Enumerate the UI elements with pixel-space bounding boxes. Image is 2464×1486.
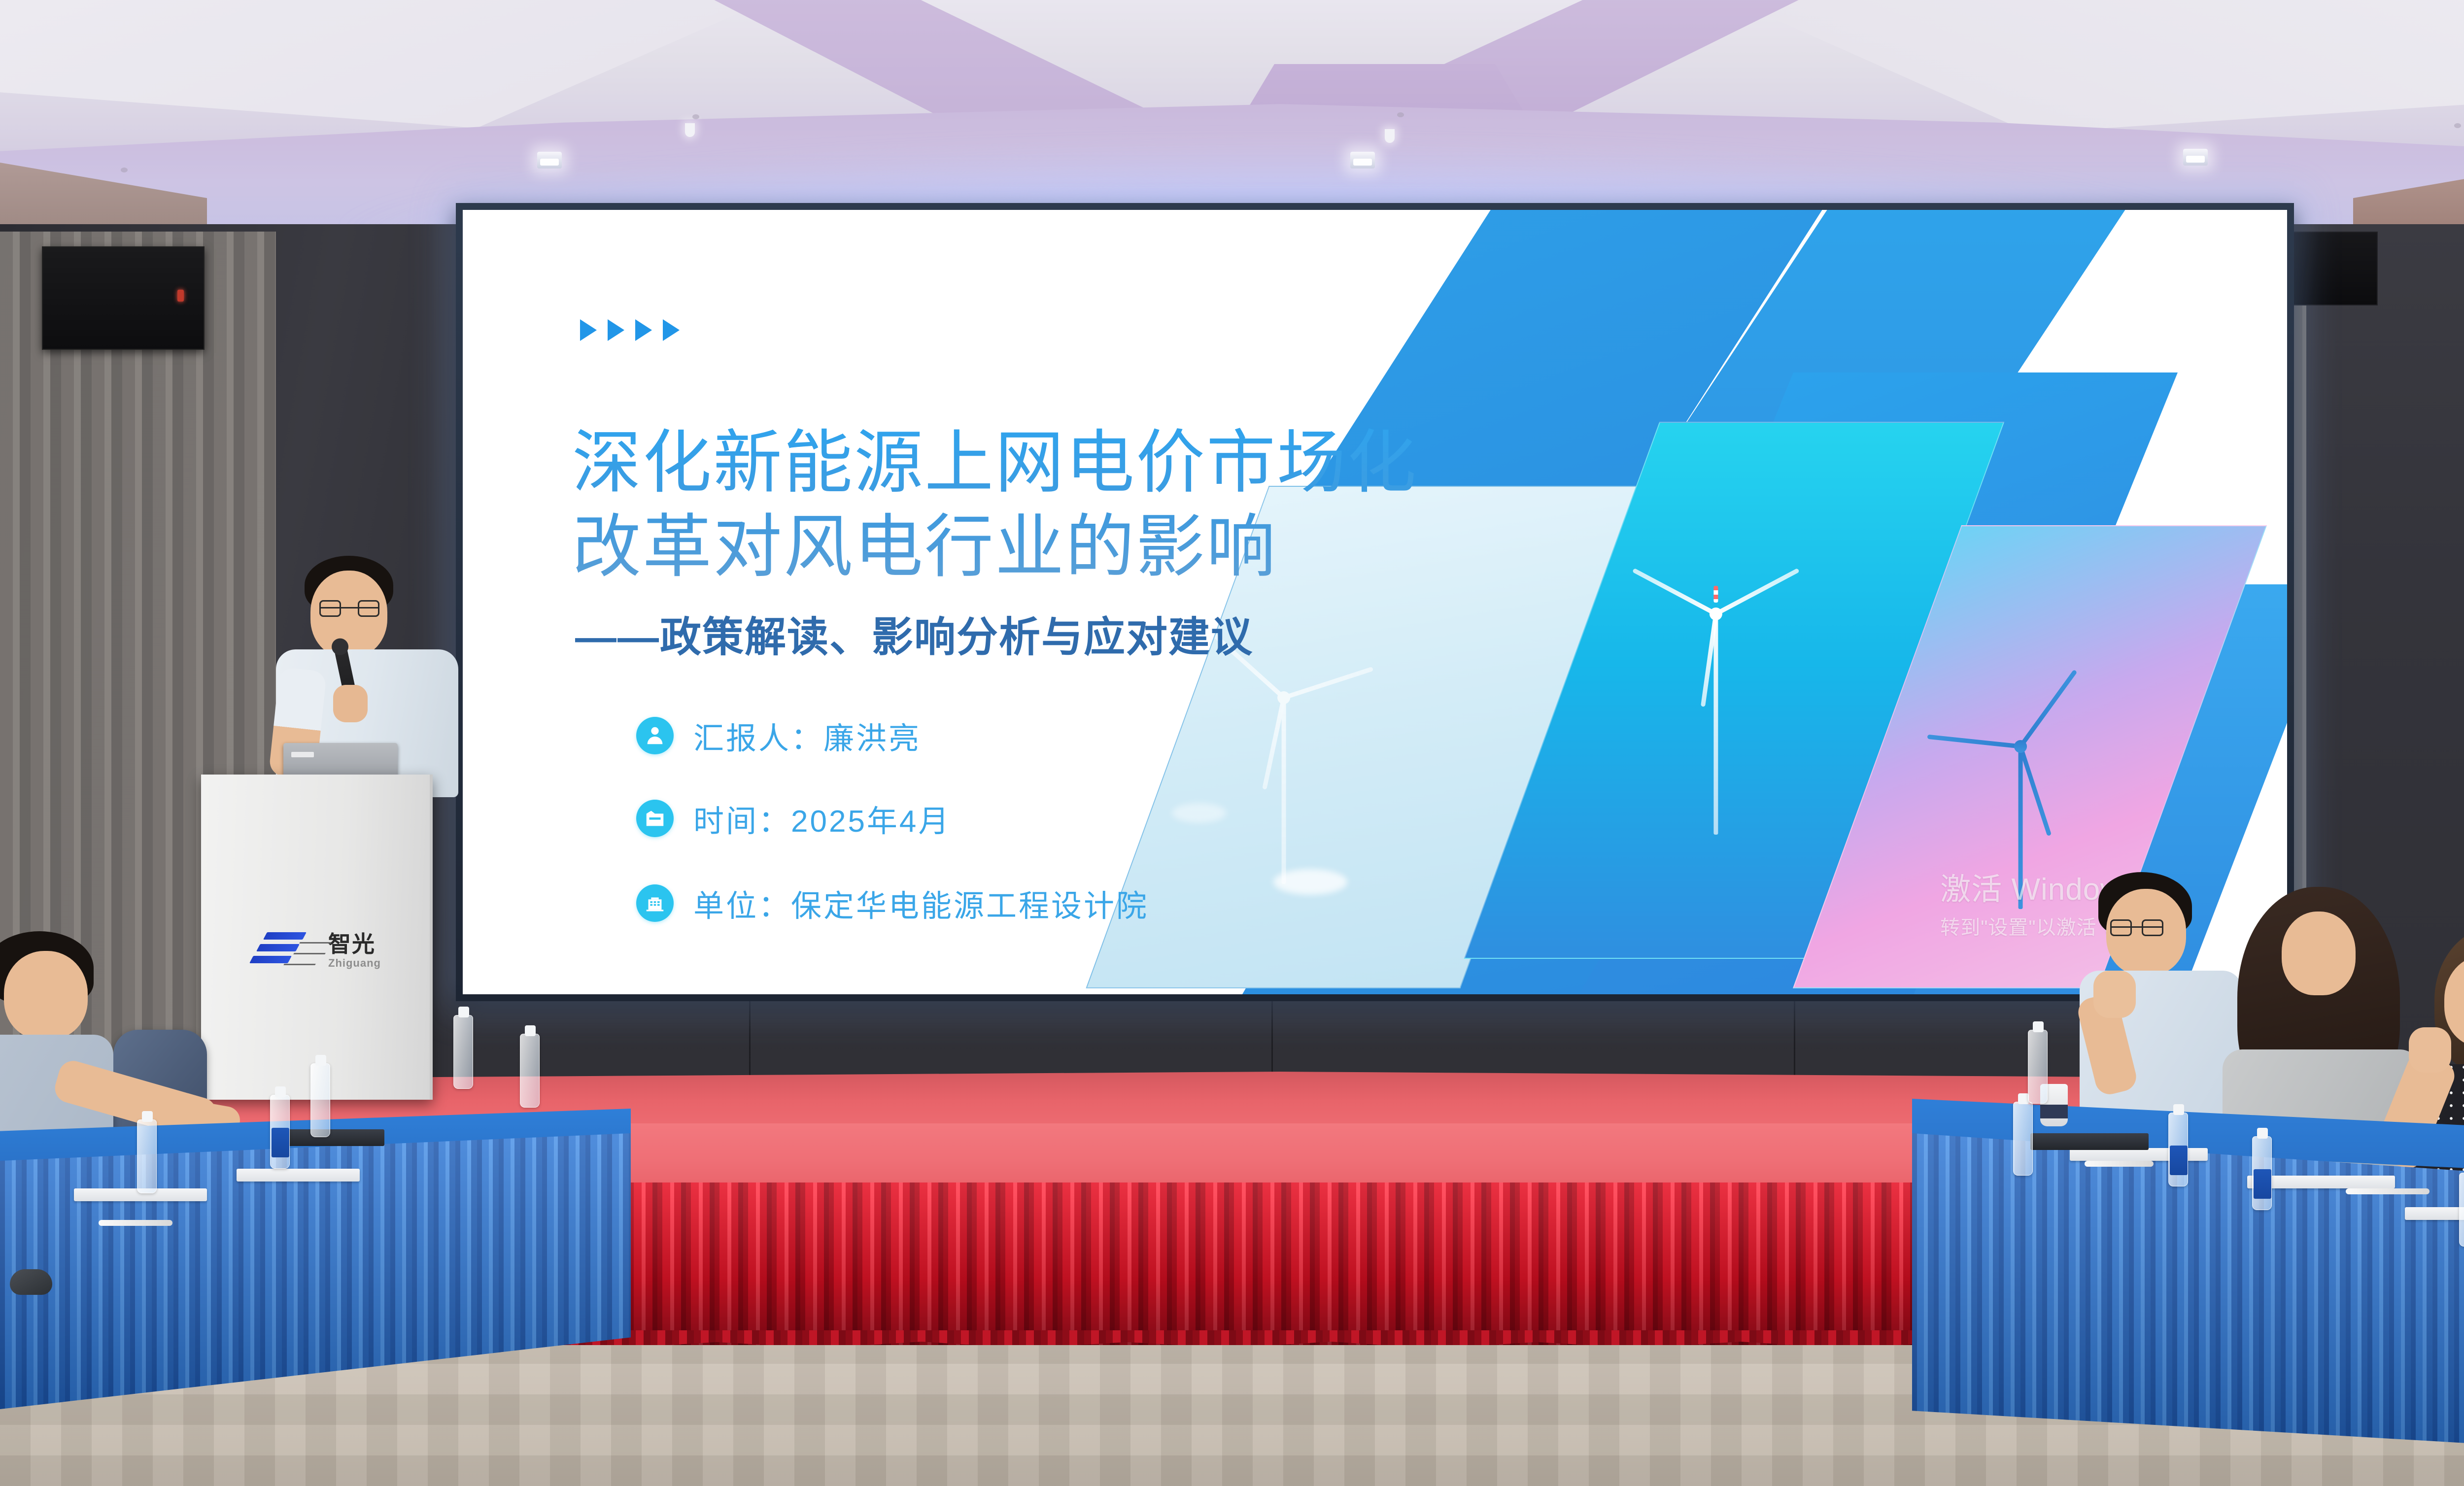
calendar-icon bbox=[636, 800, 674, 837]
speaker-box-left bbox=[42, 246, 205, 350]
podium-logo: 智光 Zhiguang bbox=[248, 931, 381, 970]
water-bottle bbox=[2252, 1136, 2272, 1210]
info-row-organization: 单位：保定华电能源工程设计院 bbox=[636, 881, 1149, 925]
play-arrow-icon bbox=[608, 319, 624, 341]
play-arrow-icon bbox=[635, 319, 652, 341]
arrow-marker-group bbox=[580, 319, 680, 341]
ceiling-panel-right bbox=[1732, 0, 2464, 133]
podium-brand-cn: 智光 bbox=[328, 933, 381, 955]
slide-subtitle: ——政策解读、影响分析与应对建议 bbox=[575, 604, 1511, 664]
water-bottle bbox=[2028, 1030, 2048, 1104]
notepad bbox=[2405, 1207, 2464, 1220]
audience-hand bbox=[2093, 971, 2136, 1018]
slide-title-line1: 深化新能源上网电价市场化 bbox=[572, 421, 1582, 505]
info-row-date: 时间：2025年4月 bbox=[636, 796, 951, 841]
spotlight-icon bbox=[2183, 149, 2208, 166]
podium-brand-en: Zhiguang bbox=[328, 958, 381, 969]
person-icon bbox=[636, 717, 674, 754]
water-bottle bbox=[453, 1015, 473, 1089]
ceiling-vent bbox=[121, 168, 128, 172]
water-bottle bbox=[2459, 1173, 2464, 1247]
ceiling-panel-left bbox=[0, 0, 769, 128]
zhiguang-logo-icon bbox=[248, 931, 317, 970]
slide-title: 深化新能源上网电价市场化 改革对风电行业的影响 bbox=[572, 421, 1582, 589]
audience-head bbox=[2282, 912, 2356, 995]
water-bottle bbox=[270, 1095, 290, 1169]
building-icon bbox=[636, 884, 674, 922]
ceiling-vent bbox=[2454, 123, 2461, 128]
presentation-slide[interactable]: 深化新能源上网电价市场化 改革对风电行业的影响 ——政策解读、影响分析与应对建议… bbox=[463, 210, 2287, 994]
info-row-presenter: 汇报人：廉洪亮 bbox=[636, 713, 921, 758]
info-row-organization-label: 单位：保定华电能源工程设计院 bbox=[693, 881, 1149, 925]
power-led-icon bbox=[177, 290, 184, 302]
water-bottle bbox=[2168, 1113, 2188, 1186]
downlight-icon bbox=[685, 123, 695, 137]
notebook bbox=[2030, 1133, 2149, 1150]
audience-hand bbox=[2409, 1027, 2451, 1073]
podium: 智光 Zhiguang bbox=[201, 775, 433, 1100]
glasses-icon bbox=[319, 607, 379, 608]
water-bottle bbox=[2013, 1102, 2033, 1176]
play-arrow-icon bbox=[663, 319, 680, 341]
notebook bbox=[276, 1129, 384, 1146]
notepad bbox=[237, 1169, 360, 1182]
pen bbox=[2346, 1188, 2430, 1194]
conference-hall-scene: 深化新能源上网电价市场化 改革对风电行业的影响 ——政策解读、影响分析与应对建议… bbox=[0, 0, 2464, 1486]
info-row-presenter-label: 汇报人：廉洪亮 bbox=[693, 713, 921, 758]
ceiling-vent bbox=[1397, 112, 1404, 117]
presenter-hand bbox=[333, 685, 368, 722]
water-bottle bbox=[520, 1034, 540, 1108]
downlight-icon bbox=[1385, 129, 1395, 143]
led-screen[interactable]: 深化新能源上网电价市场化 改革对风电行业的影响 ——政策解读、影响分析与应对建议… bbox=[456, 203, 2294, 1001]
ceiling bbox=[0, 0, 2464, 232]
computer-mouse bbox=[10, 1269, 52, 1295]
audience-head bbox=[4, 951, 88, 1040]
pen bbox=[99, 1220, 172, 1226]
play-arrow-icon bbox=[580, 319, 597, 341]
spotlight-icon bbox=[1350, 152, 1375, 169]
slide-title-line2: 改革对风电行业的影响 bbox=[572, 505, 1582, 589]
spotlight-icon bbox=[537, 152, 562, 169]
water-bottle bbox=[310, 1063, 330, 1137]
water-bottle bbox=[137, 1119, 157, 1193]
info-row-date-label: 时间：2025年4月 bbox=[693, 796, 951, 841]
wind-turbine-icon bbox=[1622, 490, 1810, 865]
glasses-icon bbox=[2110, 926, 2163, 928]
pen bbox=[2085, 1161, 2154, 1167]
ceiling-vent bbox=[692, 114, 699, 119]
